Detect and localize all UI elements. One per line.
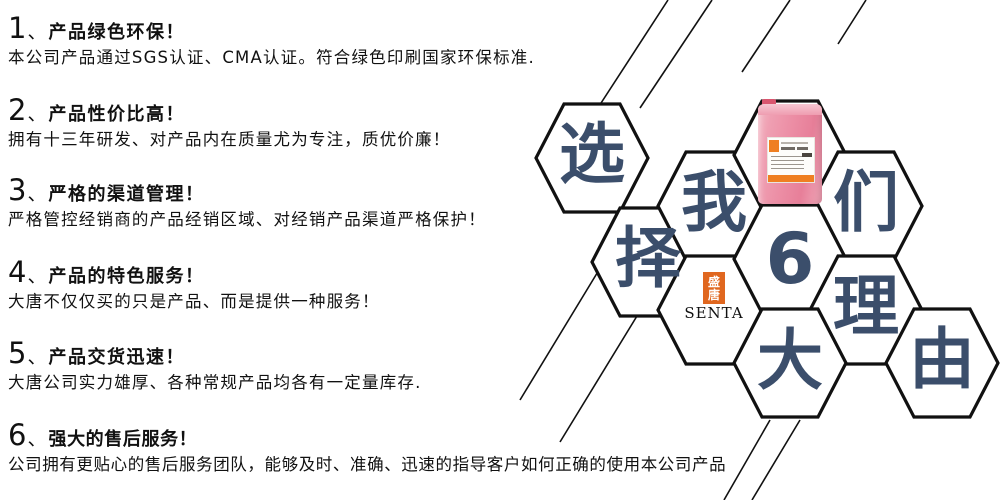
reason-title: 产品性价比高！ xyxy=(48,106,185,124)
reason-number: 1 xyxy=(8,14,26,43)
reason-number: 2 xyxy=(8,96,26,125)
reason-heading: 4 、 产品的特色服务！ xyxy=(8,258,380,287)
reason-heading: 6 、 强大的售后服务！ xyxy=(8,421,726,450)
reason-heading: 5 、 产品交货迅速！ xyxy=(8,339,422,368)
reason-separator: 、 xyxy=(27,185,46,204)
reason-title: 产品的特色服务！ xyxy=(48,268,204,286)
reason-description: 公司拥有更贴心的售后服务团队，能够及时、准确、迅速的指导客户如何正确的使用本公司… xyxy=(8,455,726,475)
reason-heading: 3 、 严格的渠道管理！ xyxy=(8,176,486,205)
reason-title: 强大的售后服务！ xyxy=(48,431,197,449)
reason-separator: 、 xyxy=(27,430,46,449)
reason-number: 3 xyxy=(8,176,26,205)
reason-item-2: 2 、 产品性价比高！ 拥有十三年研发、对产品内在质量尤为专注，质优价廉！ xyxy=(8,96,451,150)
reason-separator: 、 xyxy=(27,348,46,367)
reason-description: 拥有十三年研发、对产品内在质量尤为专注，质优价廉！ xyxy=(8,130,451,150)
reason-separator: 、 xyxy=(27,267,46,286)
reason-title: 严格的渠道管理！ xyxy=(48,186,204,204)
reasons-list: 1 、 产品绿色环保！ 本公司产品通过SGS认证、CMA认证。符合绿色印刷国家环… xyxy=(0,0,1000,500)
reason-description: 大唐不仅仅买的只是产品、而是提供一种服务！ xyxy=(8,292,380,312)
reason-item-5: 5 、 产品交货迅速！ 大唐公司实力雄厚、各种常规产品均各有一定量库存. xyxy=(8,339,422,393)
reason-item-6: 6 、 强大的售后服务！ 公司拥有更贴心的售后服务团队，能够及时、准确、迅速的指… xyxy=(8,421,726,475)
reason-number: 4 xyxy=(8,258,26,287)
reason-heading: 1 、 产品绿色环保！ xyxy=(8,14,535,43)
reason-heading: 2 、 产品性价比高！ xyxy=(8,96,451,125)
reason-separator: 、 xyxy=(27,23,46,42)
reason-item-3: 3 、 严格的渠道管理！ 严格管控经销商的产品经销区域、对经销产品渠道严格保护！ xyxy=(8,176,486,230)
reason-title: 产品交货迅速！ xyxy=(48,349,185,367)
reason-number: 6 xyxy=(8,421,26,450)
reason-description: 本公司产品通过SGS认证、CMA认证。符合绿色印刷国家环保标准. xyxy=(8,48,535,68)
reason-item-4: 4 、 产品的特色服务！ 大唐不仅仅买的只是产品、而是提供一种服务！ xyxy=(8,258,380,312)
reason-separator: 、 xyxy=(27,105,46,124)
reason-title: 产品绿色环保！ xyxy=(48,24,185,42)
reason-description: 严格管控经销商的产品经销区域、对经销产品渠道严格保护！ xyxy=(8,210,486,230)
reason-description: 大唐公司实力雄厚、各种常规产品均各有一定量库存. xyxy=(8,373,422,393)
promo-banner: 1 、 产品绿色环保！ 本公司产品通过SGS认证、CMA认证。符合绿色印刷国家环… xyxy=(0,0,1000,500)
reason-item-1: 1 、 产品绿色环保！ 本公司产品通过SGS认证、CMA认证。符合绿色印刷国家环… xyxy=(8,14,535,68)
reason-number: 5 xyxy=(8,339,26,368)
